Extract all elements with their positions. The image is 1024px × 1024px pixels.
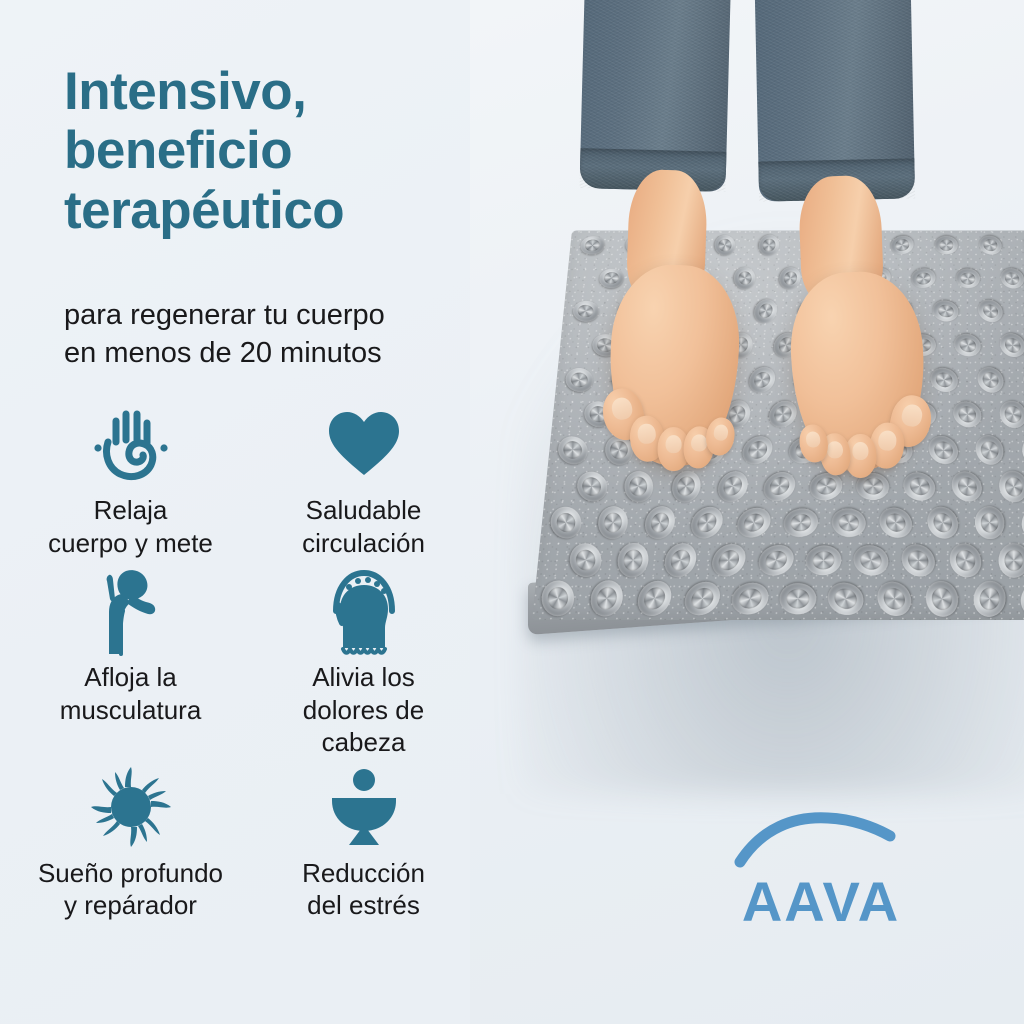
- subheadline-line-2: en menos de 20 minutos: [64, 335, 484, 373]
- benefit-label: Sueño profundoy repárador: [38, 857, 223, 922]
- mat-spike-disc: [758, 234, 780, 256]
- benefit-item-headache: Alivia losdolores decabeza: [247, 559, 480, 759]
- healing-hand-spiral-icon: [93, 398, 169, 490]
- toenail: [878, 430, 897, 451]
- mat-spike-disc: [972, 362, 1008, 397]
- mat-spike-disc: [561, 363, 598, 396]
- mat-spike-disc: [1021, 364, 1024, 395]
- benefit-item-relax: Relajacuerpo y mete: [14, 398, 247, 559]
- mat-spike-disc: [972, 432, 1008, 469]
- mat-spike-disc: [898, 467, 941, 506]
- mat-spike-disc: [753, 539, 798, 581]
- mat-spike-disc: [733, 265, 758, 291]
- mat-spike-disc: [923, 431, 964, 470]
- benefit-row: Relajacuerpo y mete Saludablecirculación: [14, 398, 480, 559]
- mat-spike-disc: [971, 578, 1007, 618]
- mat-spike-disc: [622, 467, 657, 505]
- subheadline-line-1: para regenerar tu cuerpo: [64, 297, 484, 335]
- mat-spike-disc: [571, 466, 613, 507]
- mat-spike-disc: [975, 233, 1005, 259]
- mat-spike-disc: [596, 504, 629, 542]
- mat-spike-disc: [996, 468, 1024, 505]
- mat-spike-disc: [758, 466, 801, 507]
- mat-spike-disc: [828, 505, 869, 541]
- mat-spike-disc: [552, 431, 593, 470]
- mat-spike-disc: [677, 574, 726, 622]
- mat-spike-disc: [1018, 503, 1024, 543]
- mat-spike-disc: [1019, 296, 1024, 326]
- foot-right: [787, 269, 929, 474]
- headline-line-3: terapéutico: [64, 181, 484, 240]
- benefit-grid: Relajacuerpo y mete Saludablecirculación: [14, 398, 480, 922]
- mat-spike-disc: [822, 576, 870, 621]
- mat-spike-disc: [848, 540, 893, 580]
- benefit-item-circulation: Saludablecirculación: [247, 398, 480, 559]
- mat-spike-disc: [685, 501, 730, 544]
- benefit-label: Reduccióndel estrés: [302, 857, 425, 922]
- mat-spike-disc: [954, 267, 982, 290]
- mat-spike-disc: [947, 396, 986, 433]
- mat-spike-disc: [921, 502, 963, 545]
- mat-spike-disc: [995, 329, 1024, 362]
- neck-stretch-person-icon: [96, 565, 166, 657]
- mat-spike-disc: [744, 362, 780, 397]
- heart-icon: [326, 398, 402, 490]
- mat-spike-disc: [921, 576, 962, 620]
- brand-name: AAVA: [706, 874, 936, 930]
- benefit-item-muscle: Afloja lamusculatura: [14, 559, 247, 759]
- benefit-label: Alivia losdolores decabeza: [303, 661, 424, 759]
- mat-spike-disc: [998, 543, 1024, 578]
- headache-head-icon: [325, 565, 403, 657]
- mat-spike-disc: [945, 466, 987, 507]
- mat-spike-disc: [728, 578, 772, 619]
- sun-burst-icon: [88, 761, 174, 853]
- toenail: [713, 423, 730, 441]
- toenail: [805, 430, 822, 448]
- toenail: [899, 403, 924, 429]
- headline-line-2: beneficio: [64, 121, 484, 180]
- mat-spike-disc: [995, 396, 1024, 432]
- acupressure-mat: [510, 188, 1024, 798]
- mat-spike-disc: [945, 538, 987, 582]
- mat-spike-disc: [888, 233, 916, 257]
- benefit-label: Relajacuerpo y mete: [48, 494, 213, 559]
- benefit-row: Sueño profundoy repárador Reduccióndel e…: [14, 759, 480, 922]
- arc-swoosh-icon: [732, 812, 910, 868]
- mat-spike-disc: [973, 505, 1006, 541]
- meditation-bowl-icon: [327, 761, 401, 853]
- mat-spike-disc: [895, 537, 942, 583]
- mat-spike-disc: [783, 506, 820, 539]
- mat-spike-disc: [732, 502, 776, 544]
- mat-spike-disc: [641, 504, 679, 542]
- headline-line-1: Intensivo,: [64, 62, 484, 121]
- toenail: [609, 396, 634, 422]
- toenail: [852, 442, 869, 460]
- toenail: [637, 423, 656, 444]
- benefit-label: Saludablecirculación: [302, 494, 425, 559]
- mat-spike-disc: [777, 581, 818, 616]
- mat-spike-disc: [669, 469, 702, 503]
- brand-logo: AAVA: [706, 812, 936, 930]
- mat-spike-disc: [712, 466, 753, 506]
- toenail: [665, 435, 682, 453]
- benefit-item-stress: Reduccióndel estrés: [247, 759, 480, 922]
- mat-spike-disc: [950, 330, 985, 360]
- mat-spike-disc: [909, 266, 937, 289]
- headline: Intensivo, beneficio terapéutico: [64, 62, 484, 240]
- mat-spike-disc: [934, 236, 959, 255]
- mat-spike-disc: [1014, 575, 1024, 622]
- mat-spike-disc: [973, 296, 1007, 327]
- trouser-leg-right: [755, 0, 915, 202]
- mat-spike-disc: [631, 575, 678, 622]
- mat-spike-disc: [544, 501, 586, 544]
- mat-spike-disc: [929, 298, 961, 325]
- toenail: [826, 440, 843, 459]
- mat-spike-disc: [870, 574, 918, 622]
- mat-spike-disc: [873, 502, 918, 545]
- mat-spike-disc: [712, 232, 738, 258]
- trouser-leg-left: [579, 0, 730, 192]
- benefit-label: Afloja lamusculatura: [60, 661, 202, 726]
- mat-spike-disc: [777, 266, 803, 291]
- mat-spike-disc: [659, 539, 701, 582]
- mat-spike-disc: [538, 576, 579, 621]
- foot-left: [605, 262, 743, 468]
- benefit-item-sleep: Sueño profundoy repárador: [14, 759, 247, 922]
- mat-spike-disc: [618, 542, 649, 579]
- mat-spike-disc: [737, 431, 778, 470]
- infographic-canvas: Intensivo, beneficio terapéutico para re…: [0, 0, 1024, 1024]
- mat-spike-disc: [1019, 231, 1024, 259]
- mat-spike-disc: [926, 363, 963, 397]
- mat-spike-disc: [580, 236, 605, 254]
- benefit-row: Afloja lamusculatura: [14, 559, 480, 759]
- mat-spike-disc: [996, 264, 1024, 292]
- mat-spike-disc: [751, 297, 780, 325]
- mat-spike-disc: [588, 579, 625, 617]
- mat-spike-disc: [570, 299, 602, 325]
- mat-spike-disc: [597, 267, 625, 289]
- mat-spike-disc: [805, 545, 841, 576]
- mat-spike-disc: [705, 537, 752, 583]
- mat-spike-disc: [565, 538, 607, 583]
- subheadline: para regenerar tu cuerpo en menos de 20 …: [64, 297, 484, 372]
